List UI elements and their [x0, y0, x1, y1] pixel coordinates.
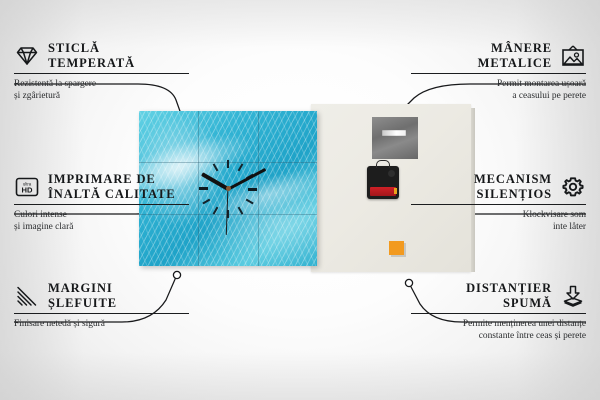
- callout-title: MÂNERE METALICE: [478, 41, 552, 70]
- diamond-icon: [14, 44, 40, 68]
- callout-title: MECANISM SILENȚIOS: [474, 172, 552, 201]
- mechanism-knob: [388, 170, 395, 177]
- gear-icon: [560, 175, 586, 199]
- callout-high-quality-print: ultra HD IMPRIMARE DE ÎNALTĂ CALITATE Cu…: [14, 172, 189, 233]
- picture-frame-icon: [560, 44, 586, 68]
- callout-subtitle: Klockvisare som inte låter: [411, 210, 586, 233]
- callout-rule: [14, 204, 189, 205]
- mechanism-loop: [376, 160, 390, 168]
- callout-subtitle: Finisare netedă și sigură: [14, 319, 189, 331]
- callout-title: DISTANȚIER SPUMĂ: [466, 281, 552, 310]
- callout-title: MARGINI ȘLEFUITE: [48, 281, 117, 310]
- battery: [370, 187, 396, 196]
- callout-foam-spacer: DISTANȚIER SPUMĂ Permite menținerea unei…: [411, 281, 586, 342]
- callout-rule: [411, 204, 586, 205]
- ultra-hd-icon: ultra HD: [14, 175, 40, 199]
- svg-text:HD: HD: [22, 185, 33, 194]
- hanger-slot: [382, 130, 406, 136]
- callout-silent-mechanism: MECANISM SILENȚIOS Klockvisare som inte …: [411, 172, 586, 233]
- infographic-canvas: STICLĂ TEMPERATĂ Rezistentă la spargere …: [0, 0, 600, 400]
- polished-edges-icon: [14, 284, 40, 308]
- callout-rule: [411, 73, 586, 74]
- callout-rule: [411, 313, 586, 314]
- callout-rule: [14, 313, 189, 314]
- callout-subtitle: Permit montarea ușoară a ceasului pe per…: [411, 79, 586, 102]
- callout-subtitle: Permite menținerea unei distanțe constan…: [411, 319, 586, 342]
- callout-title: IMPRIMARE DE ÎNALTĂ CALITATE: [48, 172, 176, 201]
- callout-tempered-glass: STICLĂ TEMPERATĂ Rezistentă la spargere …: [14, 41, 189, 102]
- callout-metal-handles: MÂNERE METALICE Permit montarea ușoară a…: [411, 41, 586, 102]
- callout-polished-edges: MARGINI ȘLEFUITE Finisare netedă și sigu…: [14, 281, 189, 331]
- metal-hanger-part: [372, 117, 418, 159]
- press-down-icon: [560, 284, 586, 308]
- callout-rule: [14, 73, 189, 74]
- hand-cap: [226, 186, 231, 191]
- clock-mechanism-part: [367, 166, 399, 199]
- callout-title: STICLĂ TEMPERATĂ: [48, 41, 135, 70]
- callout-subtitle: Rezistentă la spargere și zgârietură: [14, 79, 189, 102]
- foam-spacer-part: [389, 241, 404, 255]
- callout-subtitle: Culori intense și imagine clară: [14, 210, 189, 233]
